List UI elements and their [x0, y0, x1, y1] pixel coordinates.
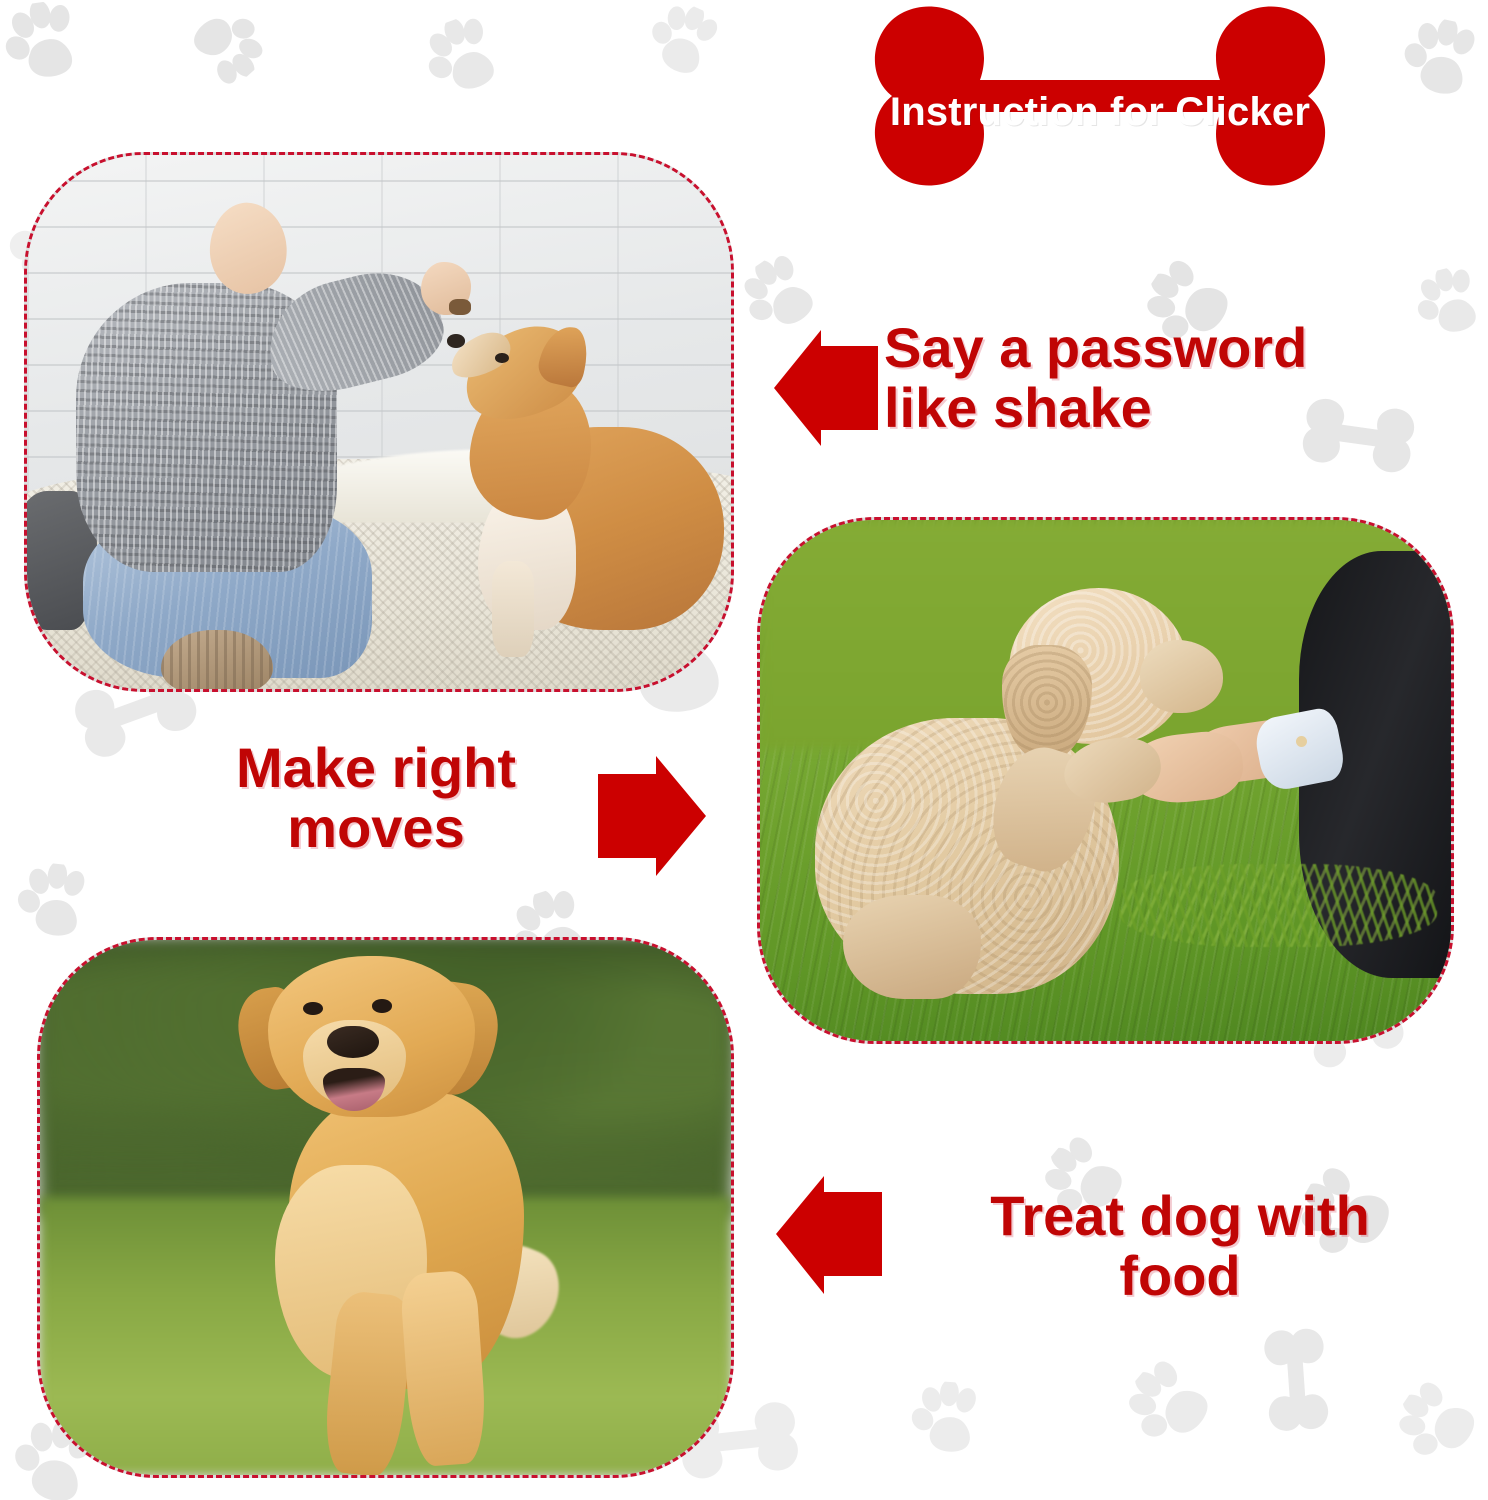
- corgi-eye: [495, 353, 508, 363]
- paw-print-icon: [1394, 12, 1488, 109]
- photo-step-1-say-password: [24, 152, 734, 692]
- arrow-right-icon: [598, 756, 706, 876]
- bone-title-banner: Instruction for Clicker: [808, 6, 1392, 218]
- caption-step-3-line-1: Treat dog with: [940, 1186, 1420, 1246]
- paw-print-icon: [1408, 260, 1488, 347]
- dog-treat: [449, 299, 470, 315]
- paw-print-icon: [636, 0, 734, 92]
- paw-print-icon: [1384, 1364, 1488, 1478]
- grass-tuft: [1119, 864, 1437, 947]
- paw-print-icon: [0, 0, 93, 91]
- caption-step-1: Say a password like shake: [884, 318, 1404, 439]
- retriever-nose: [327, 1026, 379, 1058]
- arrow-left-icon: [776, 1176, 882, 1294]
- corgi-nose: [447, 334, 465, 348]
- caption-step-1-line-1: Say a password: [884, 318, 1404, 378]
- paw-print-icon: [12, 860, 100, 948]
- caption-step-3: Treat dog with food: [940, 1186, 1420, 1307]
- page-title: Instruction for Clicker: [808, 6, 1392, 218]
- caption-step-2: Make right moves: [186, 738, 566, 859]
- clicker-instruction-poster: Instruction for Clicker Say a password l…: [0, 0, 1488, 1500]
- arrow-left-icon: [774, 330, 878, 446]
- paw-print-icon: [415, 7, 518, 110]
- corgi-front-leg: [492, 561, 534, 657]
- poodle-rear-leg: [843, 895, 981, 999]
- photo-step-2-make-right-moves: [757, 517, 1454, 1044]
- caption-step-2-line-1: Make right: [186, 738, 566, 798]
- photo-step-3-treat-dog-with-food: [37, 937, 734, 1478]
- bone-icon: [1253, 1313, 1334, 1448]
- caption-step-2-line-2: moves: [186, 798, 566, 858]
- poodle-muzzle: [1140, 640, 1223, 713]
- paw-print-icon: [907, 1379, 990, 1462]
- paw-print-icon: [1112, 1342, 1233, 1463]
- retriever-right-eye: [372, 999, 393, 1013]
- paw-print-icon: [170, 0, 277, 100]
- caption-step-3-line-2: food: [940, 1246, 1420, 1306]
- caption-step-1-line-2: like shake: [884, 378, 1404, 438]
